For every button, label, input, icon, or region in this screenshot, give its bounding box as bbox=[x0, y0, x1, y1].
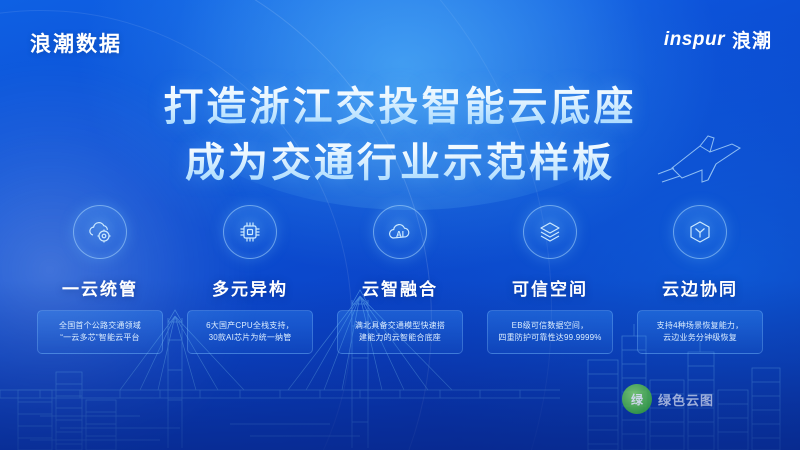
cloud-gear-icon bbox=[73, 205, 127, 259]
poster-header: 浪潮数据 inspur 浪潮 bbox=[0, 0, 800, 74]
feature-title-2: 多元异构 bbox=[178, 275, 322, 300]
feature-card-3[interactable]: AI 云智融合 满北具备交通模型快速搭 建能力的云智能合底座 bbox=[328, 205, 472, 354]
svg-text:AI: AI bbox=[396, 230, 404, 239]
brand-name-cn: 浪潮 bbox=[732, 26, 772, 53]
watermark-text: 绿色云图 bbox=[658, 390, 714, 409]
feature-desc-3-line2: 建能力的云智能合底座 bbox=[359, 332, 441, 344]
feature-desc-5-line1: 支持4种场景恢复能力， bbox=[657, 320, 744, 332]
headline-line-1: 打造浙江交投智能云底座 bbox=[0, 82, 800, 132]
feature-card-2[interactable]: 多元异构 6大国产CPU全栈支持， 30款AI芯片为统一纳管 bbox=[178, 205, 322, 354]
feature-card-4[interactable]: 可信空间 EB级可信数据空间， 四重防护可靠性达99.9999% bbox=[478, 205, 622, 354]
layers-stack-icon bbox=[523, 205, 577, 259]
feature-desc-4: EB级可信数据空间， 四重防护可靠性达99.9999% bbox=[487, 310, 613, 354]
feature-title-4: 可信空间 bbox=[478, 275, 622, 300]
feature-desc-4-line1: EB级可信数据空间， bbox=[512, 320, 589, 332]
inspur-data-logo: 浪潮数据 bbox=[30, 28, 122, 58]
feature-desc-2: 6大国产CPU全栈支持， 30款AI芯片为统一纳管 bbox=[187, 310, 313, 354]
airplane-icon bbox=[656, 128, 748, 194]
inspur-brand-logo: inspur 浪潮 bbox=[664, 26, 772, 53]
feature-desc-3: 满北具备交通模型快速搭 建能力的云智能合底座 bbox=[337, 310, 463, 354]
feature-desc-1-line1: 全国首个公路交通领域 bbox=[59, 320, 141, 332]
feature-desc-5-line2: 云边业务分钟级恢复 bbox=[663, 332, 737, 344]
feature-desc-4-line2: 四重防护可靠性达99.9999% bbox=[498, 332, 601, 344]
ai-cloud-icon: AI bbox=[373, 205, 427, 259]
feature-row: 一云统管 全国首个公路交通领域 “一云多芯”智能云平台 多元异构 6大国产CPU… bbox=[28, 205, 772, 354]
brand-name-en: inspur bbox=[664, 29, 725, 51]
feature-title-1: 一云统管 bbox=[28, 275, 172, 300]
hexagon-node-icon bbox=[673, 205, 727, 259]
watermark: 绿 绿色云图 bbox=[622, 384, 714, 414]
feature-desc-5: 支持4种场景恢复能力， 云边业务分钟级恢复 bbox=[637, 310, 763, 354]
feature-title-3: 云智融合 bbox=[328, 275, 472, 300]
watermark-badge-icon: 绿 bbox=[622, 384, 652, 414]
cpu-chip-icon bbox=[223, 205, 277, 259]
poster-canvas: 浪潮数据 inspur 浪潮 打造浙江交投智能云底座 成为交通行业示范样板 bbox=[0, 0, 800, 450]
feature-desc-1-line2: “一云多芯”智能云平台 bbox=[60, 332, 140, 344]
feature-desc-3-line1: 满北具备交通模型快速搭 bbox=[355, 320, 445, 332]
feature-desc-1: 全国首个公路交通领域 “一云多芯”智能云平台 bbox=[37, 310, 163, 354]
feature-card-1[interactable]: 一云统管 全国首个公路交通领域 “一云多芯”智能云平台 bbox=[28, 205, 172, 354]
feature-desc-2-line1: 6大国产CPU全栈支持， bbox=[206, 320, 294, 332]
feature-desc-2-line2: 30款AI芯片为统一纳管 bbox=[209, 332, 292, 344]
feature-card-5[interactable]: 云边协同 支持4种场景恢复能力， 云边业务分钟级恢复 bbox=[628, 205, 772, 354]
feature-title-5: 云边协同 bbox=[628, 275, 772, 300]
